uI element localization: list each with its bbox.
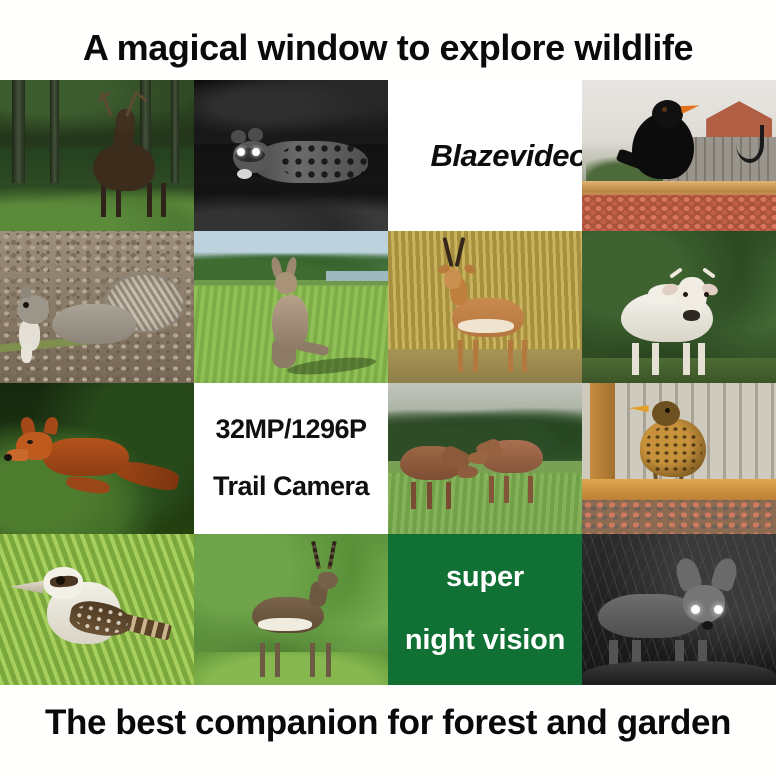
cow-head <box>677 277 707 315</box>
product-name-label: Trail Camera <box>213 471 369 502</box>
fox-eye-glow <box>714 605 723 614</box>
horse-leg <box>446 482 451 509</box>
brand-wordmark: Blazevideo <box>431 138 582 174</box>
photo-cell-kookaburra <box>0 534 194 685</box>
horse-leg <box>504 476 509 503</box>
rocky-ground <box>194 177 388 231</box>
cow-leg <box>698 343 705 375</box>
impala-belly <box>458 319 514 333</box>
page-title: A magical window to explore wildlife <box>0 20 776 76</box>
blackbuck-leg <box>260 643 265 677</box>
photo-cell-impala <box>388 231 582 382</box>
genet-ear <box>231 130 246 143</box>
genet-eye-glow <box>237 148 245 156</box>
genet-muzzle <box>237 169 252 179</box>
feeder-rim <box>582 181 776 192</box>
kangaroo-head <box>275 272 297 294</box>
blackbird-head <box>652 100 683 128</box>
photo-cell-kangaroo <box>194 231 388 382</box>
squirrel-paw <box>21 343 32 363</box>
distant-water <box>326 271 388 282</box>
grass-mound <box>194 652 388 685</box>
blackbird-eye <box>662 107 667 112</box>
deer-leg <box>161 183 166 217</box>
horse-leg <box>427 482 432 509</box>
grass-ground <box>582 358 776 382</box>
bird-food <box>582 195 776 231</box>
blackbuck-leg <box>326 643 331 677</box>
feeder-rail <box>582 479 776 500</box>
horse-leg <box>411 482 416 509</box>
cow-leg <box>652 343 659 375</box>
impala-leg <box>458 340 463 372</box>
bare-ground <box>388 349 582 382</box>
brand-cell: Blazevideo <box>388 80 582 231</box>
photo-grid: Blazevideo <box>0 80 776 685</box>
grassy-hill <box>388 473 582 534</box>
night-vision-callout-cell: super night vision <box>388 534 582 685</box>
thrush-head <box>652 401 680 426</box>
photo-cell-red-deer <box>0 80 194 231</box>
photo-cell-genet-night-vision <box>194 80 388 231</box>
deer-leg <box>147 183 152 217</box>
dark-background <box>194 80 388 144</box>
genet-ear <box>248 128 263 141</box>
blackbuck-head <box>318 572 338 589</box>
photo-cell-blackbird-feeder <box>582 80 776 231</box>
page-footer: The best companion for forest and garden <box>0 694 776 752</box>
impala-leg <box>473 340 478 372</box>
fox-body <box>43 438 129 476</box>
photo-cell-zebu-cow <box>582 231 776 382</box>
deer-leg <box>101 183 106 217</box>
thrush-speckles <box>644 425 702 475</box>
horse-leg <box>489 476 494 503</box>
blackbuck-leg <box>310 643 315 677</box>
cow-eye <box>683 292 688 297</box>
genet-spot-pattern <box>279 142 371 180</box>
kangaroo-body <box>272 295 308 349</box>
squirrel-head <box>17 295 49 324</box>
cow-leg <box>632 343 639 375</box>
horse-leg <box>528 476 533 503</box>
photo-cell-blackbuck <box>194 534 388 685</box>
photo-cell-thrush-feeder <box>582 383 776 534</box>
blackbuck-belly <box>258 618 312 631</box>
photo-cell-grey-squirrel <box>0 231 194 382</box>
cow-muzzle <box>683 310 700 321</box>
fox-nose <box>4 454 12 461</box>
resolution-label: 32MP/1296P <box>215 414 366 445</box>
squirrel-body <box>52 304 136 344</box>
foreground-log <box>582 661 776 685</box>
blackbird-beak <box>680 102 700 114</box>
night-vision-line-1: super <box>446 561 524 594</box>
product-spec-cell: 32MP/1296P Trail Camera <box>194 383 388 534</box>
photo-cell-bat-eared-fox-night-vision <box>582 534 776 685</box>
impala-leg <box>508 340 513 372</box>
horse-head-right <box>468 452 487 464</box>
photo-cell-horses <box>388 383 582 534</box>
product-poster: A magical window to explore wildlife <box>0 0 776 776</box>
night-vision-line-2: night vision <box>405 624 565 657</box>
cow-eye <box>704 292 709 297</box>
squirrel-ear <box>21 286 31 298</box>
cow-leg <box>683 343 690 375</box>
forest-canopy <box>0 80 194 147</box>
photo-cell-red-fox <box>0 383 194 534</box>
horse-head-left <box>458 466 478 478</box>
impala-leg <box>522 340 527 372</box>
blackbuck-leg <box>275 643 280 677</box>
fox-eye-glow <box>691 605 700 614</box>
feeder-food <box>582 500 776 533</box>
